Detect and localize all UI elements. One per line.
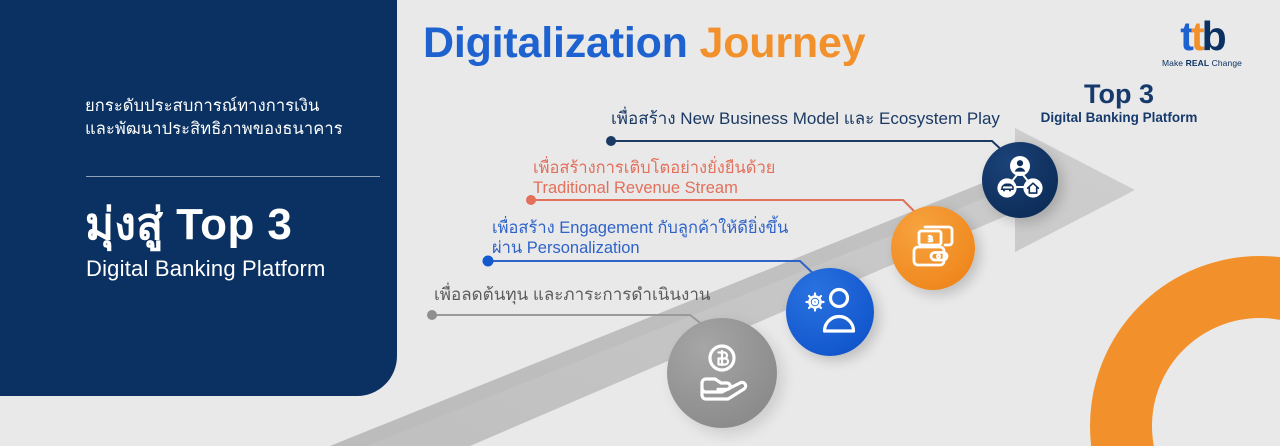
ttb-logo: ttb Make REAL Change	[1162, 17, 1242, 67]
milestone-label-1: เพื่อลดต้นทุน และภาระการดำเนินงาน	[434, 285, 711, 306]
milestone-label-4-line1: เพื่อสร้าง New Business Model และ Ecosys…	[611, 109, 1000, 128]
ttb-tagline-strong: REAL	[1186, 58, 1210, 68]
ttb-logo-mark: ttb	[1162, 17, 1242, 56]
goal-endpoint-label: Top 3 Digital Banking Platform	[1021, 80, 1217, 125]
milestone-label-3-line2: Traditional Revenue Stream	[533, 178, 775, 198]
page-title-part2: Journey	[700, 19, 866, 67]
milestone-node-3[interactable]	[891, 206, 975, 290]
milestone-label-2: เพื่อสร้าง Engagement กับลูกค้าให้ดียิ่ง…	[492, 218, 788, 258]
ttb-logo-tagline: Make REAL Change	[1162, 59, 1242, 68]
ttb-tagline-post: Change	[1209, 58, 1242, 68]
milestone-node-1[interactable]	[667, 318, 777, 428]
milestone-label-2-line1: เพื่อสร้าง Engagement กับลูกค้าให้ดียิ่ง…	[492, 219, 788, 237]
person-gear-icon	[801, 283, 859, 342]
milestone-label-2-line2: ผ่าน Personalization	[492, 238, 788, 258]
ttb-logo-t2: t	[1191, 13, 1202, 59]
milestone-label-4: เพื่อสร้าง New Business Model และ Ecosys…	[611, 109, 1000, 130]
infographic-canvas: เพื่อลดต้นทุน และภาระการดำเนินงาน เพื่อส…	[0, 0, 1280, 446]
milestone-node-2[interactable]	[786, 268, 874, 356]
ttb-logo-b: b	[1202, 13, 1224, 59]
goal-headline: Top 3	[1021, 80, 1217, 108]
page-title-part1: Digitalization	[423, 19, 688, 67]
hand-holding-baht-coin-icon	[690, 339, 754, 408]
page-title: Digitalization Journey	[423, 19, 865, 68]
ecosystem-person-car-house-icon	[994, 153, 1046, 208]
ttb-logo-t1: t	[1180, 13, 1191, 59]
milestone-label-3-line1: เพื่อสร้างการเติบโตอย่างยั่งยืนด้วย	[533, 159, 775, 177]
goal-subhead: Digital Banking Platform	[1021, 110, 1217, 125]
ttb-tagline-pre: Make	[1162, 58, 1186, 68]
milestone-node-4[interactable]	[982, 142, 1058, 218]
milestone-label-3: เพื่อสร้างการเติบโตอย่างยั่งยืนด้วย Trad…	[533, 158, 775, 198]
milestone-label-1-line1: เพื่อลดต้นทุน และภาระการดำเนินงาน	[434, 285, 711, 304]
wallet-banknote-icon	[907, 221, 959, 276]
